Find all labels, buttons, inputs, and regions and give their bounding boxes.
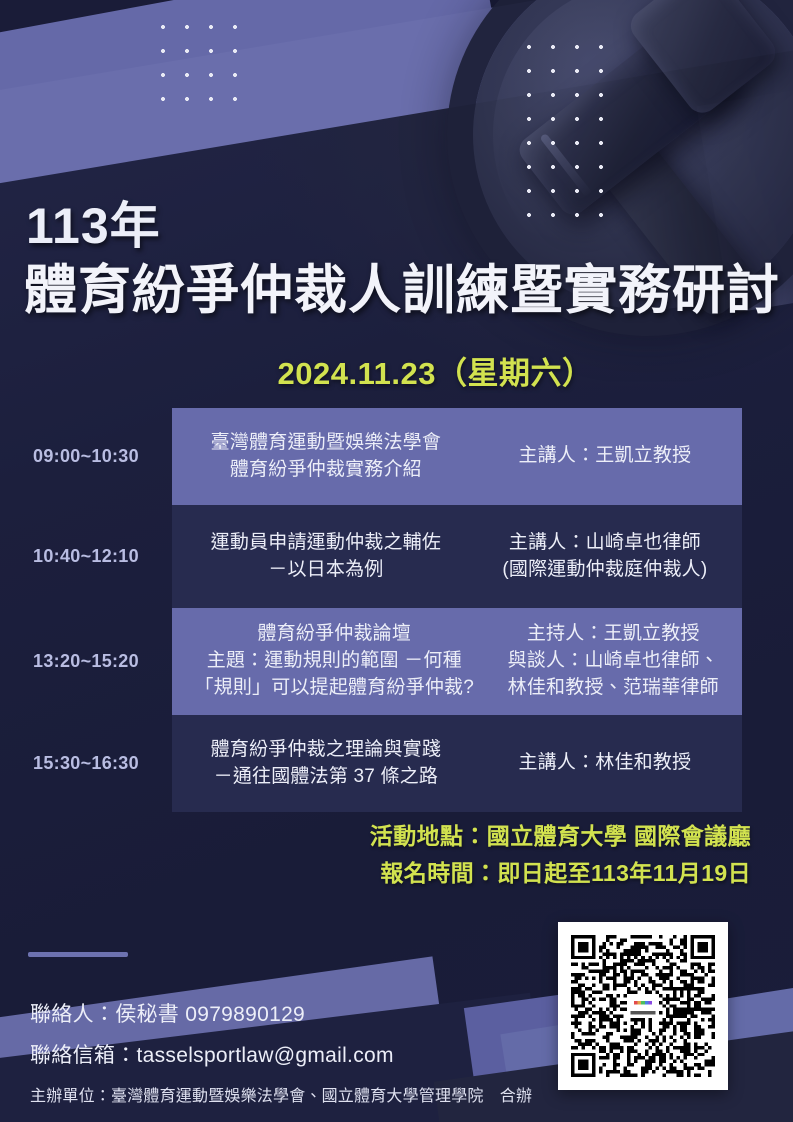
schedule-speaker: 主講人：林佳和教授 bbox=[474, 750, 736, 777]
schedule-topic: 體育紛爭仲裁之理論與實踐－通往國體法第 37 條之路 bbox=[178, 737, 474, 791]
schedule-speaker: 主講人：山崎卓也律師(國際運動仲裁庭仲裁人) bbox=[474, 530, 736, 584]
gavel-cap bbox=[624, 0, 781, 119]
schedule-topic: 臺灣體育運動暨娛樂法學會體育紛爭仲裁實務介紹 bbox=[178, 430, 474, 484]
schedule-panel: 運動員申請運動仲裁之輔佐－以日本為例主講人：山崎卓也律師(國際運動仲裁庭仲裁人) bbox=[172, 505, 742, 608]
schedule-panel: 臺灣體育運動暨娛樂法學會體育紛爭仲裁實務介紹主講人：王凱立教授 bbox=[172, 408, 742, 505]
contact-block: 聯絡人：侯秘書 0979890129 聯絡信箱：tasselsportlaw@g… bbox=[30, 995, 394, 1077]
schedule-time: 15:30~16:30 bbox=[0, 753, 172, 774]
table-row: 13:20~15:20體育紛爭仲裁論壇主題：運動規則的範圍 －何種「規則」可以提… bbox=[0, 608, 793, 715]
schedule-table: 09:00~10:30臺灣體育運動暨娛樂法學會體育紛爭仲裁實務介紹主講人：王凱立… bbox=[0, 408, 793, 812]
page-title: 體育紛爭仲裁人訓練暨實務研討 bbox=[24, 248, 780, 324]
table-row: 10:40~12:10運動員申請運動仲裁之輔佐－以日本為例主講人：山崎卓也律師(… bbox=[0, 505, 793, 608]
schedule-speaker: 主講人：王凱立教授 bbox=[474, 443, 736, 470]
table-row: 15:30~16:30體育紛爭仲裁之理論與實踐－通往國體法第 37 條之路主講人… bbox=[0, 715, 793, 812]
dot-grid-top-right bbox=[517, 35, 605, 232]
organizer-line: 主辦單位：臺灣體育運動暨娛樂法學會、國立體育大學管理學院 合辦 bbox=[30, 1082, 532, 1106]
diagonal-band-top-left-light-2 bbox=[0, 0, 793, 211]
contact-email[interactable]: 聯絡信箱：tasselsportlaw@gmail.com bbox=[30, 1036, 394, 1077]
diagonal-band-top-left-shadow bbox=[0, 0, 793, 138]
schedule-time: 10:40~12:10 bbox=[0, 546, 172, 567]
schedule-panel: 體育紛爭仲裁之理論與實踐－通往國體法第 37 條之路主講人：林佳和教授 bbox=[172, 715, 742, 812]
registration-line: 報名時間：即日起至113年11月19日 bbox=[370, 855, 751, 892]
schedule-speaker: 主持人：王凱立教授與談人：山崎卓也律師、林佳和教授、范瑞華律師 bbox=[490, 621, 736, 702]
contact-person: 聯絡人：侯秘書 0979890129 bbox=[30, 995, 394, 1036]
poster-root: 113年 體育紛爭仲裁人訓練暨實務研討 2024.11.23（星期六） 09:0… bbox=[0, 0, 793, 1122]
table-row: 09:00~10:30臺灣體育運動暨娛樂法學會體育紛爭仲裁實務介紹主講人：王凱立… bbox=[0, 408, 793, 505]
schedule-topic: 運動員申請運動仲裁之輔佐－以日本為例 bbox=[178, 530, 474, 584]
qr-code[interactable] bbox=[558, 922, 728, 1090]
diagonal-band-top-left-dark bbox=[0, 0, 685, 87]
dot-grid-top-left bbox=[151, 15, 239, 103]
dot-grid-bottom-right bbox=[697, 1085, 789, 1122]
schedule-topic: 體育紛爭仲裁論壇主題：運動規則的範圍 －何種「規則」可以提起體育紛爭仲裁? bbox=[178, 621, 490, 702]
schedule-time: 13:20~15:20 bbox=[0, 651, 172, 672]
schedule-time: 09:00~10:30 bbox=[0, 446, 172, 467]
gavel-head bbox=[514, 12, 744, 220]
qr-code-image bbox=[571, 935, 715, 1077]
gavel-highlight bbox=[493, 0, 793, 290]
diagonal-band-top-left-light bbox=[0, 0, 501, 178]
event-date: 2024.11.23（星期六） bbox=[0, 348, 793, 393]
event-info: 活動地點：國立體育大學 國際會議廳 報名時間：即日起至113年11月19日 bbox=[370, 818, 751, 893]
venue-line: 活動地點：國立體育大學 國際會議廳 bbox=[370, 818, 751, 855]
divider-rule bbox=[28, 952, 128, 957]
schedule-panel: 體育紛爭仲裁論壇主題：運動規則的範圍 －何種「規則」可以提起體育紛爭仲裁?主持人… bbox=[172, 608, 742, 715]
